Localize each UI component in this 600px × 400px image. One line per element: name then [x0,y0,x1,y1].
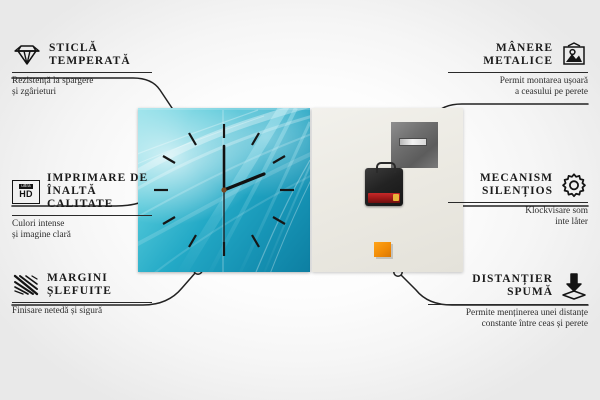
feature-subtitle: Permit montarea ușoară a ceasului pe per… [448,76,588,99]
ultra-hd-badge-icon: ultra HD [12,180,40,204]
feature-subtitle: Culori intense și imagine clară [12,219,152,242]
diamond-icon [12,43,42,67]
feature-header: ultra HD IMPRIMARE DE ÎNALTĂ CALITATE [12,172,152,211]
feature-header: MÂNERE METALICE [448,42,588,68]
feature-header: DISTANȚIER SPUMĂ [428,272,588,300]
feature-mecanism-silentios: MECANISM SILENȚIOS Klockvisare som inte … [448,172,588,229]
feature-divider [12,302,152,303]
product-image [138,108,463,272]
feature-divider [448,202,588,203]
picture-hanger-icon [560,42,588,68]
feature-header: STICLĂ TEMPERATĂ [12,42,152,68]
hanger-slot [399,138,427,146]
gear-icon [560,172,588,198]
feature-title: DISTANȚIER SPUMĂ [472,273,553,299]
ultra-hd-badge-large-label: HD [19,190,33,199]
feature-manere-metalice: MÂNERE METALICE Permit montarea ușoară a… [448,42,588,99]
battery [368,193,400,203]
feature-subtitle: Permite menținerea unei distanțe constan… [428,308,588,331]
clock-face [138,108,310,272]
feature-imprimare-inalta-calitate: ultra HD IMPRIMARE DE ÎNALTĂ CALITATE Cu… [12,172,152,242]
feature-margini-slefuite: MARGINI ȘLEFUITE Finisare netedă și sigu… [12,272,152,317]
infographic-canvas: STICLĂ TEMPERATĂ Rezistență la spargere … [0,0,600,400]
feature-header: MECANISM SILENȚIOS [448,172,588,198]
feature-divider [448,72,588,73]
battery-terminal [393,194,399,201]
clock-hands [221,146,264,250]
clock-mechanism [365,168,403,206]
clock-front-panel [138,108,310,272]
feature-subtitle: Klockvisare som inte låter [448,206,588,229]
foam-spacer [374,242,391,257]
feature-title: IMPRIMARE DE ÎNALTĂ CALITATE [47,172,152,211]
feature-divider [12,72,152,73]
foam-spacer-arrow-icon [560,272,588,300]
feature-distantier-spuma: DISTANȚIER SPUMĂ Permite menținerea unei… [428,272,588,331]
feature-subtitle: Rezistență la spargere și zgârieturi [12,76,152,99]
feature-title: MÂNERE METALICE [483,42,553,68]
feature-title: MARGINI ȘLEFUITE [47,272,112,298]
feature-sticla-temperata: STICLĂ TEMPERATĂ Rezistență la spargere … [12,42,152,99]
metal-hanger [391,122,438,168]
feature-divider [428,304,588,305]
feature-title: MECANISM SILENȚIOS [480,172,553,198]
mechanism-hook [376,162,396,173]
clock-back-panel [312,108,463,272]
polished-edges-icon [12,273,40,297]
feature-header: MARGINI ȘLEFUITE [12,272,152,298]
feature-title: STICLĂ TEMPERATĂ [49,42,131,68]
feature-subtitle: Finisare netedă și sigură [12,306,152,317]
feature-divider [12,215,152,216]
